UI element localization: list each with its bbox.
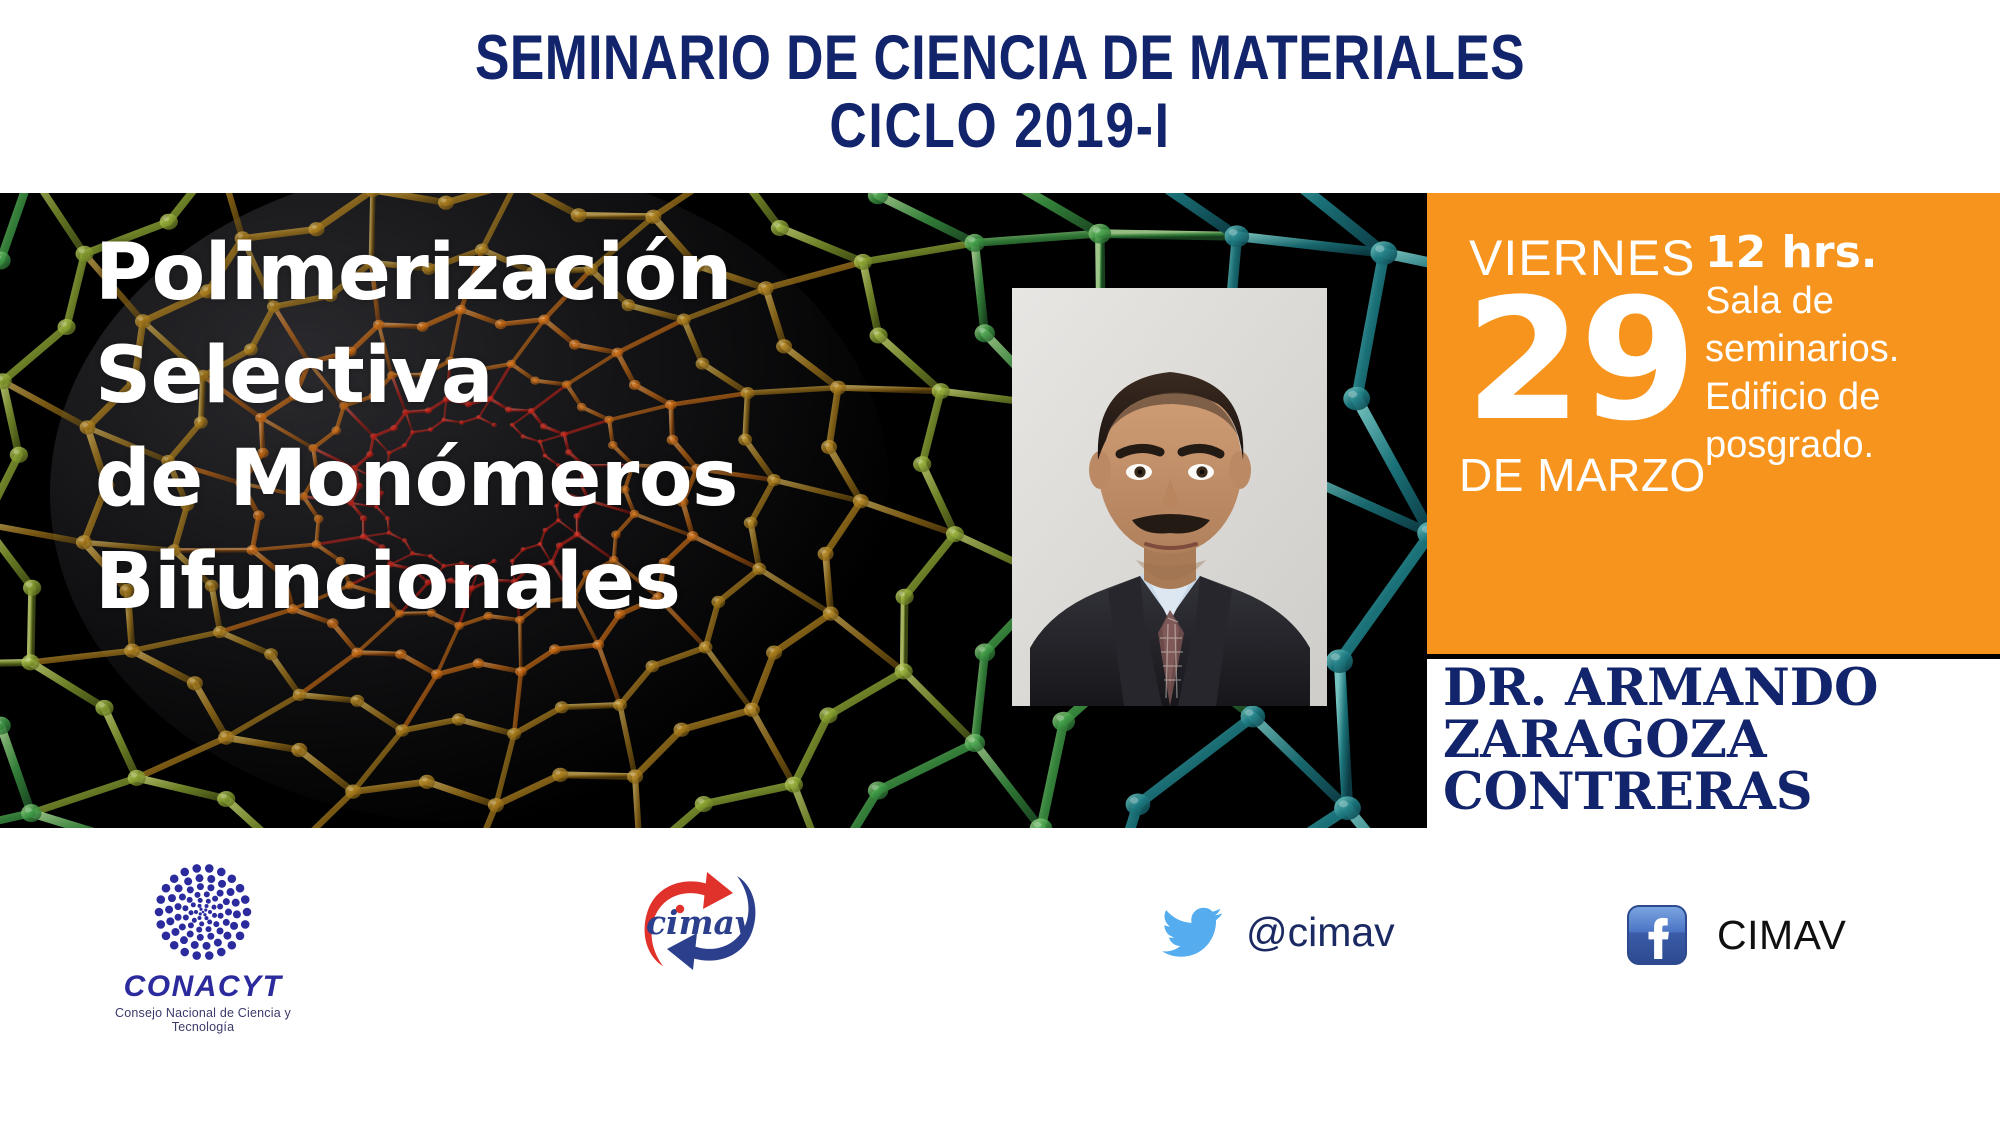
speaker-photo — [1012, 288, 1327, 706]
month-label: DE MARZO — [1459, 448, 1706, 502]
conacyt-wordmark: CONACYT — [88, 970, 318, 1004]
day-number: 29 — [1465, 276, 1695, 444]
facebook-page-name: CIMAV — [1717, 912, 1846, 959]
speaker-portrait-image — [1012, 288, 1327, 706]
time-label: 12 hrs. — [1705, 227, 1877, 278]
talk-title: Polimerización Selectiva de Monómeros Bi… — [95, 222, 1095, 634]
speaker-name-line-1: DR. ARMANDO — [1443, 662, 2000, 714]
speaker-name-line-2: ZARAGOZA — [1443, 714, 2000, 766]
speaker-name-line-3: CONTRERAS — [1443, 766, 2000, 818]
poster-footer: CONACYT Consejo Nacional de Ciencia y Te… — [0, 828, 2000, 1125]
conacyt-spiral-icon — [138, 856, 268, 968]
facebook-icon[interactable] — [1625, 903, 1689, 967]
twitter-account[interactable]: @cimav — [1162, 906, 1395, 958]
poster-header: SEMINARIO DE CIENCIA DE MATERIALES CICLO… — [0, 0, 2000, 188]
facebook-account[interactable]: CIMAV — [1625, 903, 1846, 967]
speaker-name-block: DR. ARMANDO ZARAGOZA CONTRERAS — [1427, 659, 2000, 828]
talk-title-line-1: Polimerización — [95, 222, 1095, 325]
schedule-panel: VIERNES 29 DE MARZO 12 hrs. Sala de semi… — [1427, 193, 2000, 654]
talk-title-line-4: Bifuncionales — [95, 531, 1095, 634]
seminar-poster: SEMINARIO DE CIENCIA DE MATERIALES CICLO… — [0, 0, 2000, 1125]
cimav-wordmark: cimav — [646, 903, 755, 942]
twitter-handle: @cimav — [1246, 909, 1395, 956]
speaker-name: DR. ARMANDO ZARAGOZA CONTRERAS — [1443, 662, 2000, 818]
twitter-bird-icon[interactable] — [1162, 906, 1224, 958]
seminar-cycle: CICLO 2019-I — [180, 90, 1820, 158]
conacyt-tagline: Consejo Nacional de Ciencia y Tecnología — [88, 1006, 318, 1034]
talk-title-line-3: de Monómeros — [95, 428, 1095, 531]
conacyt-logo: CONACYT Consejo Nacional de Ciencia y Te… — [88, 856, 318, 1034]
cimav-logo: cimav — [625, 866, 775, 976]
nanotube-artwork: Polimerización Selectiva de Monómeros Bi… — [0, 193, 1427, 828]
talk-title-line-2: Selectiva — [95, 325, 1095, 428]
seminar-series-title: SEMINARIO DE CIENCIA DE MATERIALES — [180, 0, 1820, 90]
banner: Polimerización Selectiva de Monómeros Bi… — [0, 193, 2000, 828]
cimav-arrows-icon: cimav — [625, 866, 775, 976]
venue-label: Sala de seminarios. Edificio de posgrado… — [1705, 277, 1985, 469]
